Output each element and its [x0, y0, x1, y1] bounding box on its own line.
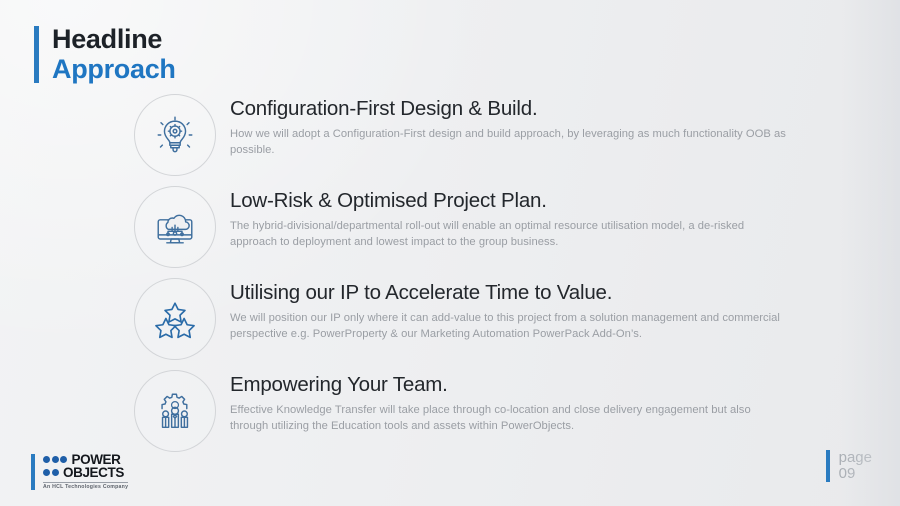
list-item: Configuration-First Design & Build. How … [134, 92, 834, 184]
icon-badge-2 [134, 186, 216, 268]
item-description: How we will adopt a Configuration-First … [230, 127, 790, 159]
slide: Headline Approach [0, 0, 900, 506]
item-title: Configuration-First Design & Build. [230, 98, 834, 121]
item-description: Effective Knowledge Transfer will take p… [230, 403, 790, 435]
logo-row-objects: OBJECTS [43, 466, 128, 479]
item-text-block: Empowering Your Team. Effective Knowledg… [230, 368, 834, 435]
list-item: Low-Risk & Optimised Project Plan. The h… [134, 184, 834, 276]
headline-primary: Headline [52, 26, 176, 53]
item-text-block: Configuration-First Design & Build. How … [230, 92, 834, 159]
cloud-monitor-icon [152, 204, 198, 250]
item-text-block: Utilising our IP to Accelerate Time to V… [230, 276, 834, 343]
page-value: 09 [839, 466, 872, 482]
logo-tagline: An HCL Technologies Company [43, 482, 128, 491]
logo-word-objects: OBJECTS [63, 466, 124, 480]
icon-badge-1 [134, 94, 216, 176]
logo-accent-bar [31, 454, 35, 490]
header-accent-bar [34, 26, 39, 83]
item-title: Low-Risk & Optimised Project Plan. [230, 190, 834, 213]
powerobjects-logo: POWER OBJECTS An HCL Technologies Compan… [31, 453, 128, 490]
three-stars-icon [152, 296, 198, 342]
list-item: Empowering Your Team. Effective Knowledg… [134, 368, 834, 460]
page-title: Headline Approach [34, 26, 176, 83]
header-text-block: Headline Approach [52, 26, 176, 83]
logo-text-block: POWER OBJECTS An HCL Technologies Compan… [43, 453, 128, 490]
page-number-text: page 09 [839, 450, 872, 482]
item-text-block: Low-Risk & Optimised Project Plan. The h… [230, 184, 834, 251]
page-number-accent-bar [826, 450, 830, 482]
item-description: The hybrid-divisional/departmental roll-… [230, 219, 790, 251]
item-description: We will position our IP only where it ca… [230, 311, 790, 343]
logo-dots-icon-2 [43, 469, 60, 476]
lightbulb-gear-icon [152, 112, 198, 158]
item-title: Utilising our IP to Accelerate Time to V… [230, 282, 834, 305]
headline-secondary: Approach [52, 56, 176, 83]
team-gear-icon [152, 388, 198, 434]
page-label: page [839, 450, 872, 466]
icon-badge-4 [134, 370, 216, 452]
logo-dots-icon [43, 456, 69, 463]
icon-badge-3 [134, 278, 216, 360]
list-item: Utilising our IP to Accelerate Time to V… [134, 276, 834, 368]
approach-item-list: Configuration-First Design & Build. How … [134, 92, 834, 460]
page-number: page 09 [826, 450, 872, 482]
item-title: Empowering Your Team. [230, 374, 834, 397]
